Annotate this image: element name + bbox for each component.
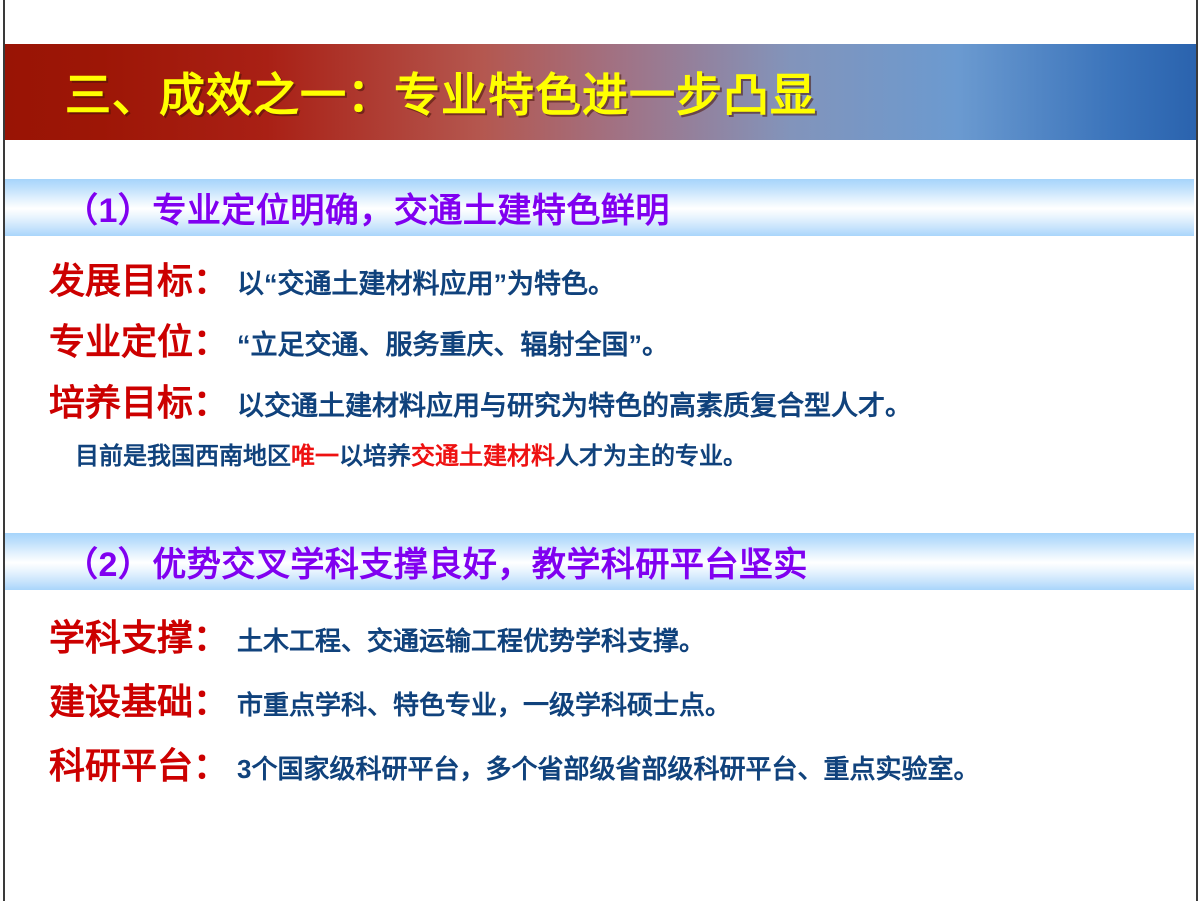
row-label: 科研平台： <box>49 737 229 789</box>
row-value: 以交通土建材料应用与研究为特色的高素质复合型人才。 <box>237 384 912 423</box>
section-header-bar-1: （1）专业定位明确，交通土建特色鲜明 <box>5 179 1194 236</box>
slide-title-banner: 三、成效之一：专业特色进一步凸显 <box>5 44 1196 140</box>
content-row: 学科支撑： 土木工程、交通运输工程优势学科支撑。 <box>5 609 1185 661</box>
slide-title: 三、成效之一：专业特色进一步凸显 <box>65 59 817 125</box>
note-highlight-1: 唯一 <box>291 443 339 470</box>
row-value: 以“交通土建材料应用”为特色。 <box>237 262 615 301</box>
content-row: 科研平台： 3个国家级科研平台，多个省部级省部级科研平台、重点实验室。 <box>5 737 1185 789</box>
note-highlight-2: 交通土建材料 <box>411 443 555 470</box>
presentation-slide: 三、成效之一：专业特色进一步凸显 （1）专业定位明确，交通土建特色鲜明 发展目标… <box>0 0 1201 901</box>
section-header-bar-2: （2）优势交叉学科支撑良好，教学科研平台坚实 <box>5 533 1194 590</box>
row-label: 学科支撑： <box>49 609 229 661</box>
row-label: 培养目标： <box>49 374 229 426</box>
row-value: 3个国家级科研平台，多个省部级省部级科研平台、重点实验室。 <box>237 749 979 786</box>
row-label: 发展目标： <box>49 252 229 304</box>
note-text-part-3: 人才为主的专业。 <box>555 443 747 470</box>
section-body-1: 发展目标： 以“交通土建材料应用”为特色。 专业定位： “立足交通、服务重庆、辐… <box>5 252 1185 471</box>
section-body-2: 学科支撑： 土木工程、交通运输工程优势学科支撑。 建设基础： 市重点学科、特色专… <box>5 609 1185 801</box>
row-value: 市重点学科、特色专业，一级学科硕士点。 <box>237 685 731 722</box>
note-text-part-2: 以培养 <box>339 443 411 470</box>
note-text-part-1: 目前是我国西南地区 <box>75 443 291 470</box>
slide-frame-line-right <box>1196 0 1198 901</box>
content-row: 发展目标： 以“交通土建材料应用”为特色。 <box>5 252 1185 304</box>
content-row: 培养目标： 以交通土建材料应用与研究为特色的高素质复合型人才。 <box>5 374 1185 426</box>
content-row: 建设基础： 市重点学科、特色专业，一级学科硕士点。 <box>5 673 1185 725</box>
row-value: “立足交通、服务重庆、辐射全国”。 <box>237 323 669 362</box>
section-header-title-2: （2）优势交叉学科支撑良好，教学科研平台坚实 <box>64 537 808 586</box>
row-value: 土木工程、交通运输工程优势学科支撑。 <box>237 621 705 658</box>
row-label: 专业定位： <box>49 313 229 365</box>
section-note-line: 目前是我国西南地区唯一以培养交通土建材料人才为主的专业。 <box>75 436 1185 471</box>
row-label: 建设基础： <box>49 673 229 725</box>
content-row: 专业定位： “立足交通、服务重庆、辐射全国”。 <box>5 313 1185 365</box>
section-header-title-1: （1）专业定位明确，交通土建特色鲜明 <box>64 183 670 232</box>
